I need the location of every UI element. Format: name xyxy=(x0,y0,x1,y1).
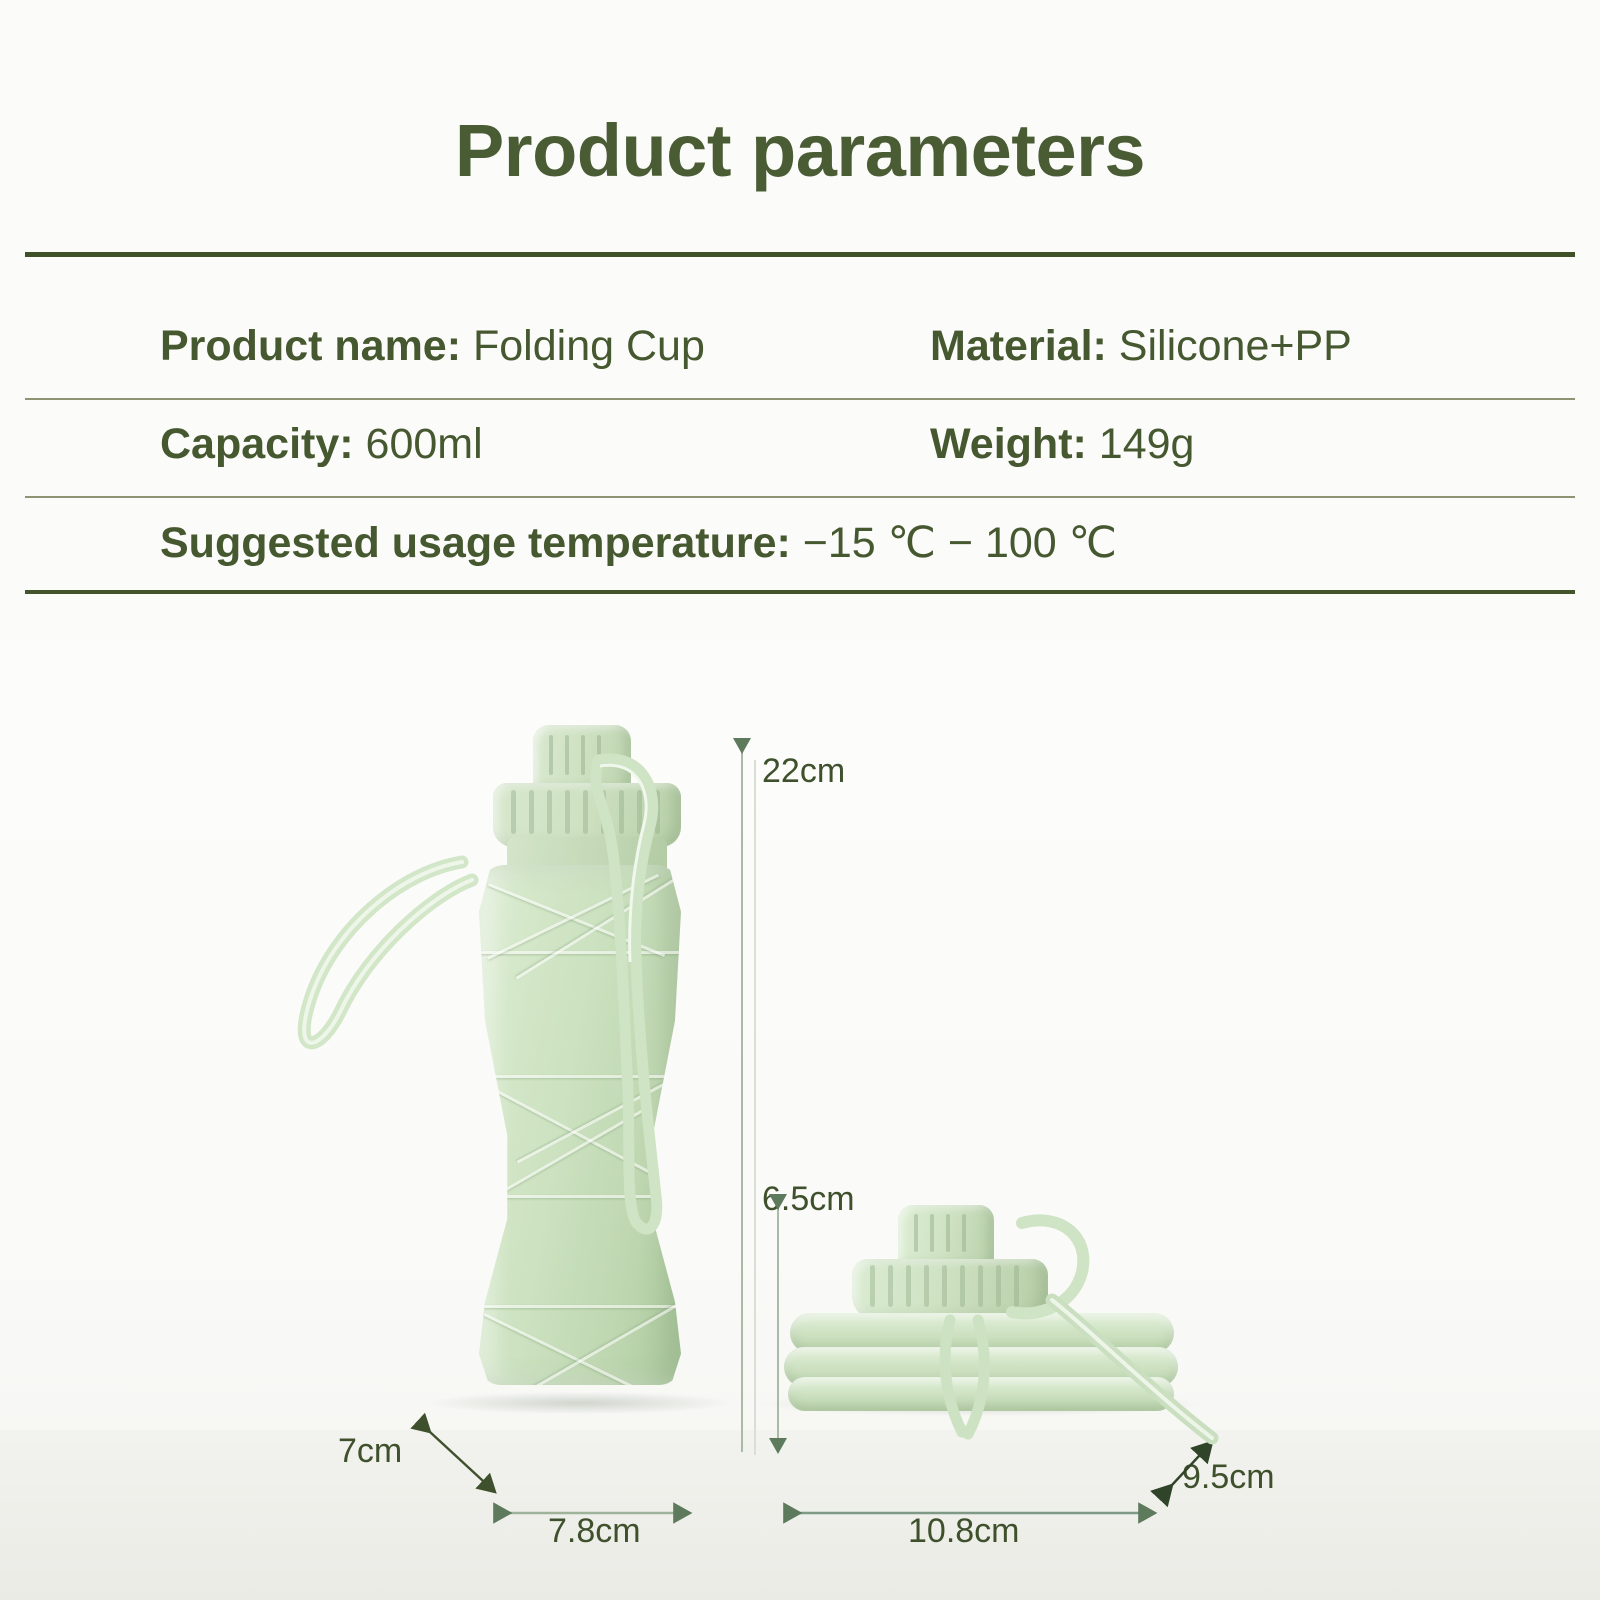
spec-temperature: Suggested usage temperature: −15 ℃ − 100… xyxy=(160,518,1117,568)
collapsed-folding-cup xyxy=(780,1205,1180,1405)
spec-product-name-label: Product name: xyxy=(160,322,461,370)
fold-ring-3 xyxy=(788,1377,1174,1411)
page-title: Product parameters xyxy=(0,108,1600,193)
spec-capacity-value: 600ml xyxy=(366,420,483,468)
bottle-body xyxy=(479,865,681,1385)
product-parameters-page: Product parameters Product name: Folding… xyxy=(0,0,1600,1600)
row-divider-3 xyxy=(25,590,1575,594)
spec-temperature-value: −15 ℃ − 100 ℃ xyxy=(803,519,1117,567)
dim-folded-height: 6.5cm xyxy=(762,1180,855,1219)
row-divider-1 xyxy=(25,398,1575,400)
spec-product-name-value: Folding Cup xyxy=(473,322,705,370)
spec-material: Material: Silicone+PP xyxy=(930,322,1352,371)
folded-cap-collar xyxy=(852,1259,1048,1321)
dim-expanded-height: 22cm xyxy=(762,752,845,791)
dim-expanded-width: 7.8cm xyxy=(548,1512,641,1551)
product-photo-stage: 22cm 6.5cm 7cm 7.8cm 10.8cm 9.5cm xyxy=(0,640,1600,1600)
dim-folded-width: 10.8cm xyxy=(908,1512,1020,1551)
spec-product-name: Product name: Folding Cup xyxy=(160,322,705,371)
table-surface xyxy=(0,1430,1600,1600)
spec-capacity-label: Capacity: xyxy=(160,420,354,468)
dim-folded-depth: 9.5cm xyxy=(1182,1458,1275,1497)
spec-material-label: Material: xyxy=(930,322,1107,370)
expanded-folding-cup xyxy=(455,725,705,1405)
spec-weight: Weight: 149g xyxy=(930,420,1194,469)
row-divider-2 xyxy=(25,496,1575,498)
spec-material-value: Silicone+PP xyxy=(1119,322,1352,370)
cap-top xyxy=(533,725,631,791)
header-divider xyxy=(25,252,1575,257)
spec-temperature-label: Suggested usage temperature: xyxy=(160,519,791,567)
folded-cap-top xyxy=(898,1205,994,1267)
spec-weight-label: Weight: xyxy=(930,420,1087,468)
dim-expanded-depth: 7cm xyxy=(338,1432,402,1471)
spec-capacity: Capacity: 600ml xyxy=(160,420,483,469)
spec-weight-value: 149g xyxy=(1099,420,1195,468)
